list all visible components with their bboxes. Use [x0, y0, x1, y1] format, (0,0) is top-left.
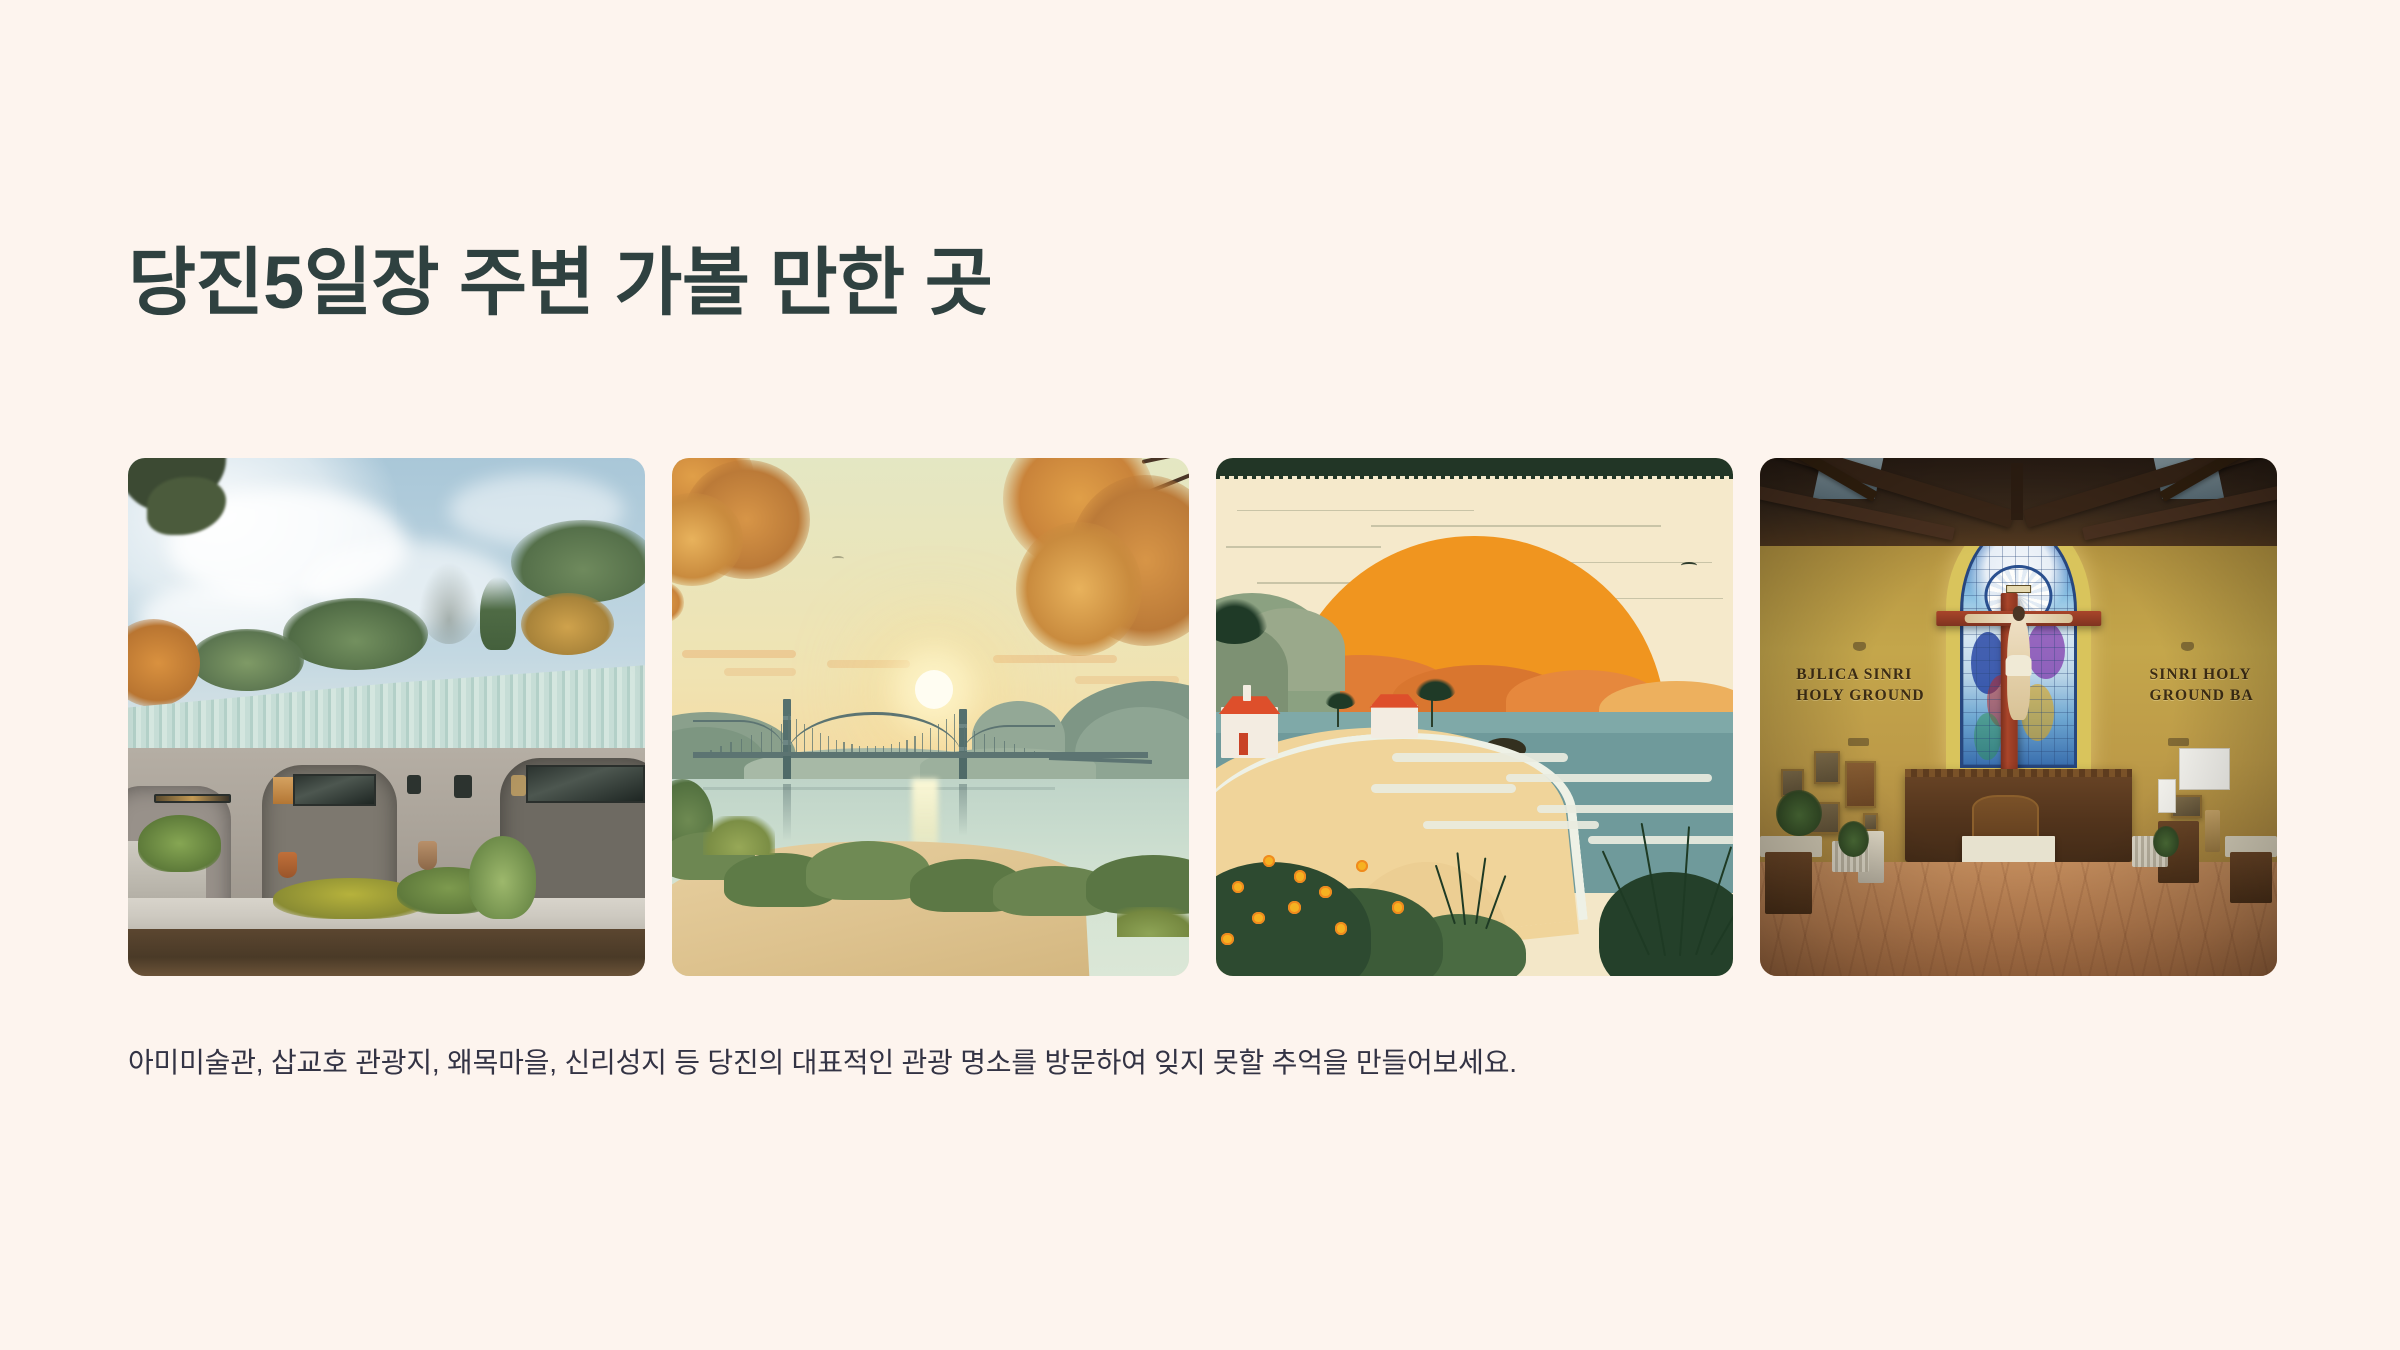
- suspender-cable: [930, 728, 931, 754]
- suspender-cable: [946, 719, 947, 755]
- suspender-cable: [922, 733, 923, 755]
- suspender-cable: [964, 727, 965, 756]
- grass-tuft: [1117, 907, 1189, 937]
- wall-inscription-right: SINRI HOLY GROUND BA: [2150, 665, 2254, 707]
- wave-line: [1537, 805, 1733, 813]
- potted-plant: [1838, 821, 1869, 857]
- glass-door: [293, 774, 376, 806]
- bush: [1086, 855, 1189, 914]
- suspender-cable: [700, 753, 701, 755]
- suspender-cable: [851, 744, 852, 755]
- tree-branch: [1141, 458, 1189, 464]
- suspender-cable: [761, 732, 762, 755]
- autumn-canopy-left-lower: [672, 582, 703, 649]
- suspender-cable: [836, 740, 837, 755]
- suspender-cable: [781, 724, 782, 755]
- suspender-cable: [820, 733, 821, 755]
- suspender-cable: [730, 742, 731, 754]
- suspender-cable: [954, 714, 955, 754]
- gallery-item-waemok-village[interactable]: [1216, 458, 1733, 976]
- bird-silhouette: [832, 556, 844, 561]
- suspender-cable: [859, 746, 860, 755]
- conifer-tree: [480, 577, 516, 650]
- horizon-cloud: [682, 650, 796, 658]
- poster-top-border: [1216, 458, 1733, 476]
- suspender-cable: [1014, 744, 1015, 756]
- bridge-sunset-illustration: [672, 458, 1189, 976]
- tree-canopy: [190, 629, 304, 691]
- village-house: [1371, 705, 1418, 738]
- tower-crossbar: [959, 747, 967, 751]
- suspender-cable: [720, 746, 721, 755]
- suspender-cable: [974, 731, 975, 757]
- yellow-flower: [1335, 922, 1347, 934]
- yellow-flower: [1232, 881, 1244, 893]
- terracotta-pot: [278, 852, 297, 878]
- bridge-reflection: [703, 787, 1055, 790]
- wall-lamp: [1848, 738, 1869, 746]
- table-legs: [2230, 852, 2271, 904]
- foreground-bush-row: [672, 821, 1189, 935]
- suspender-cable: [741, 739, 742, 755]
- suspender-cable: [906, 740, 907, 755]
- chimney: [1243, 685, 1251, 702]
- tower-crossbar: [783, 716, 791, 721]
- wave-line: [1588, 836, 1733, 844]
- suspender-cable: [984, 734, 985, 756]
- suspender-cable: [796, 719, 797, 755]
- horizon-cloud: [827, 660, 910, 668]
- suspender-cable: [875, 746, 876, 754]
- attraction-gallery: BJLICA SINRI HOLY GROUND SINRI HOLY GROU…: [128, 458, 2272, 976]
- autumn-leaves: [672, 582, 684, 622]
- gallery-caption: 아미미술관, 삽교호 관광지, 왜목마을, 신리성지 등 당진의 대표적인 관광…: [128, 1041, 1517, 1081]
- curtained-window: [511, 775, 527, 796]
- house-door: [1239, 733, 1248, 756]
- framed-painting: [1845, 761, 1876, 808]
- suspender-cable: [1034, 751, 1035, 756]
- wave-line: [1423, 821, 1599, 829]
- suspender-cable: [751, 735, 752, 755]
- ornamental-grass: [469, 836, 536, 919]
- setting-sun: [915, 670, 953, 708]
- wave-line: [1371, 784, 1516, 792]
- suspender-cable: [1004, 741, 1005, 757]
- yellow-flower: [1263, 855, 1275, 867]
- suspender-cable: [843, 742, 844, 755]
- gallery-item-sinri-holy-ground[interactable]: BJLICA SINRI HOLY GROUND SINRI HOLY GROU…: [1760, 458, 2277, 976]
- statue: [2205, 810, 2221, 851]
- narrow-window: [454, 775, 473, 797]
- suspender-cable: [710, 750, 711, 755]
- page-title: 당진5일장 주변 가볼 만한 곳: [128, 240, 992, 325]
- suspender-cable: [828, 736, 829, 755]
- yellow-flower: [1294, 870, 1306, 882]
- framed-painting: [1814, 751, 1840, 785]
- texture-line: [1226, 546, 1381, 548]
- suspender-cable: [1024, 748, 1025, 757]
- clerestory-window: [154, 794, 232, 803]
- ridge-beam: [2011, 463, 2022, 520]
- christ-figure-head: [2012, 606, 2024, 621]
- information-board: [2179, 748, 2231, 789]
- suspender-cable: [771, 728, 772, 755]
- christ-figure-loincloth: [2005, 655, 2032, 676]
- suspender-cable: [788, 714, 789, 754]
- inri-plaque: [2006, 585, 2032, 593]
- texture-line: [1371, 525, 1661, 527]
- potted-plant: [1776, 790, 1823, 837]
- yellow-flower: [1288, 901, 1300, 913]
- palm-crown: [1325, 691, 1356, 709]
- beach-poster-illustration: [1216, 458, 1733, 976]
- wave-line: [1506, 774, 1713, 782]
- suspender-cable: [812, 728, 813, 754]
- tower-crossbar: [959, 724, 967, 728]
- terracotta-pot: [418, 841, 438, 869]
- wave-line: [1392, 753, 1568, 761]
- corner-foliage: [128, 458, 226, 510]
- grass-tuft: [703, 816, 775, 855]
- museum-building-illustration: [128, 458, 645, 976]
- information-notice: [2158, 779, 2177, 813]
- suspender-cable: [867, 746, 868, 754]
- yellow-flower: [1252, 912, 1264, 924]
- suspender-cable: [883, 746, 884, 755]
- wall-lamp: [2168, 738, 2189, 746]
- church-interior-photo: BJLICA SINRI HOLY GROUND SINRI HOLY GROU…: [1760, 458, 2277, 976]
- yellow-flower: [1392, 901, 1404, 913]
- page-root: 당진5일장 주변 가볼 만한 곳: [0, 0, 2400, 1350]
- glass-door: [526, 765, 645, 803]
- wall-inscription-left: BJLICA SINRI HOLY GROUND: [1796, 665, 1925, 707]
- tower-crossbar: [783, 740, 791, 745]
- suspender-cable: [891, 744, 892, 755]
- bare-tree: [418, 562, 480, 645]
- gallery-item-sapgyoho[interactable]: [672, 458, 1189, 976]
- autumn-canopy-right: [1003, 458, 1189, 665]
- sea-highlight-band: [1216, 712, 1733, 733]
- horizon-cloud: [724, 668, 796, 676]
- autumn-lawn: [128, 929, 645, 976]
- narrow-window: [407, 775, 420, 794]
- planter-foliage: [138, 815, 221, 872]
- tiled-floor: [1760, 862, 2277, 976]
- autumn-leaves: [1016, 522, 1142, 655]
- tree-canopy: [283, 598, 428, 671]
- yellow-flower: [1221, 933, 1233, 945]
- tree-canopy: [511, 520, 645, 603]
- suspender-cable: [804, 724, 805, 755]
- gallery-item-ami-art-museum[interactable]: [128, 458, 645, 976]
- suspender-cable: [938, 724, 939, 755]
- bird-silhouette: [1681, 562, 1697, 569]
- suspender-cable: [994, 737, 995, 756]
- table-legs: [1765, 852, 1812, 914]
- village-house: [1221, 707, 1278, 759]
- potted-plant: [2153, 826, 2179, 857]
- texture-line: [1237, 510, 1475, 512]
- autumn-tree: [521, 593, 614, 655]
- autumn-canopy-left: [672, 458, 806, 593]
- suspender-cable: [1044, 754, 1045, 756]
- suspender-cable: [899, 742, 900, 755]
- suspender-cable: [914, 736, 915, 755]
- yellow-flower: [1319, 886, 1331, 898]
